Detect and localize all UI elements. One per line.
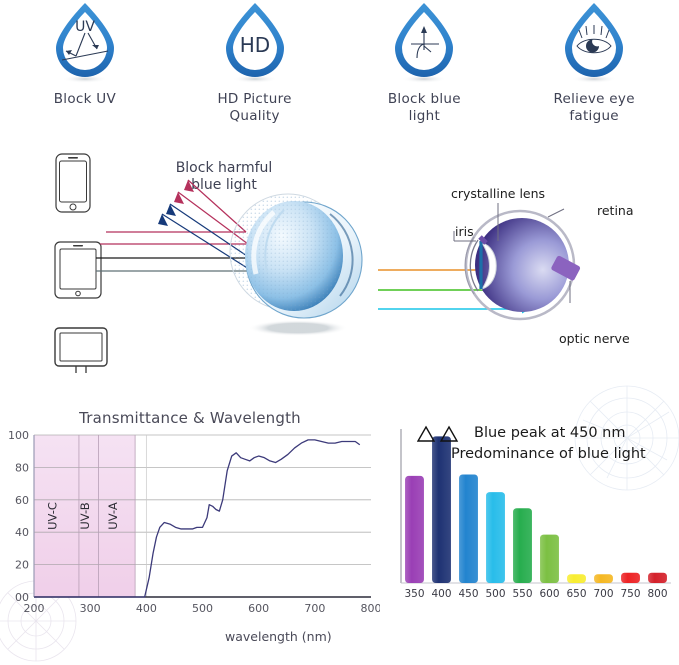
label-retina: retina: [597, 203, 634, 218]
svg-text:650: 650: [566, 588, 586, 600]
lens-illustration: [222, 188, 382, 343]
triangle-pair-marker: [417, 425, 461, 443]
svg-text:400: 400: [136, 602, 157, 615]
monitor-icon: [52, 326, 114, 378]
hd-label-line2: Quality: [229, 108, 279, 124]
svg-text:700: 700: [593, 588, 613, 600]
svg-text:750: 750: [620, 588, 640, 600]
feature-row: UV Block UV HD: [0, 0, 679, 140]
label-crystalline-lens: crystalline lens: [451, 186, 545, 201]
svg-text:500: 500: [485, 588, 505, 600]
feature-relieve-eye-fatigue[interactable]: Relieve eye fatigue: [509, 0, 679, 140]
relieve-label-line2: fatigue: [569, 108, 619, 124]
svg-text:80: 80: [15, 461, 29, 474]
svg-text:450: 450: [458, 588, 478, 600]
svg-text:100: 100: [8, 429, 29, 442]
label-optic-nerve: optic nerve: [559, 331, 630, 346]
svg-text:UV-B: UV-B: [78, 502, 92, 529]
svg-text:600: 600: [248, 602, 269, 615]
annotation-predominance: Predominance of blue light: [451, 446, 646, 462]
svg-text:UV-C: UV-C: [45, 502, 59, 530]
hd-label-line1: HD Picture: [217, 91, 291, 107]
svg-text:UV: UV: [75, 19, 95, 35]
feature-hd-picture[interactable]: HD HD Picture Quality: [170, 0, 340, 140]
svg-text:700: 700: [304, 602, 325, 615]
svg-text:20: 20: [15, 559, 29, 572]
svg-text:60: 60: [15, 494, 29, 507]
feature-block-blue-light[interactable]: Block blue light: [340, 0, 510, 140]
line-chart-title: Transmittance & Wavelength: [0, 409, 380, 427]
svg-text:40: 40: [15, 526, 29, 539]
svg-text:600: 600: [539, 588, 559, 600]
relieve-label-line1: Relieve eye: [553, 91, 634, 107]
svg-text:800: 800: [647, 588, 667, 600]
transmittance-line-chart: UV-CUV-BUV-A0020406080100200300400500600…: [0, 427, 380, 622]
svg-text:UV-A: UV-A: [106, 502, 120, 530]
line-chart-x-axis-label: wavelength (nm): [225, 629, 332, 644]
svg-text:550: 550: [512, 588, 532, 600]
uv-ray-icon: UV: [42, 0, 128, 84]
blue-label-line1: Block blue: [388, 91, 461, 107]
blue-light-scene: Block harmful blue light: [0, 140, 679, 395]
feature-label-block-uv: Block UV: [54, 91, 116, 108]
annotation-blue-peak: Blue peak at 450 nm: [474, 425, 626, 441]
feature-block-uv[interactable]: UV Block UV: [0, 0, 170, 140]
blue-label-line2: light: [409, 108, 440, 124]
feature-label-block-blue-light: Block blue light: [388, 91, 461, 125]
svg-text:HD: HD: [239, 33, 269, 57]
svg-text:200: 200: [24, 602, 45, 615]
feature-label-relieve-eye-fatigue: Relieve eye fatigue: [553, 91, 634, 125]
svg-text:500: 500: [192, 602, 213, 615]
svg-text:350: 350: [404, 588, 424, 600]
charts-area: Transmittance & Wavelength UV-CUV-BUV-A0…: [0, 395, 679, 654]
svg-text:800: 800: [361, 602, 381, 615]
eye-rest-icon: [551, 0, 637, 84]
svg-text:400: 400: [431, 588, 451, 600]
hd-icon: HD: [212, 0, 298, 84]
svg-text:300: 300: [80, 602, 101, 615]
blue-light-block-icon: [381, 0, 467, 84]
feature-label-hd-picture: HD Picture Quality: [217, 91, 291, 125]
label-iris: iris: [455, 224, 474, 239]
eye-anatomy-illustration: crystalline lens: [430, 185, 610, 350]
